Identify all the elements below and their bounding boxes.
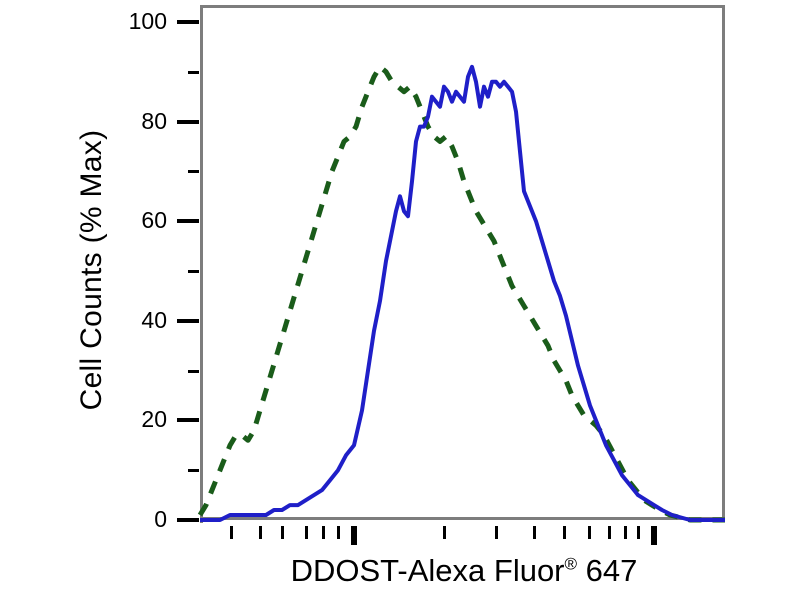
x-axis-title-tail: 647	[577, 553, 637, 588]
flow-cytometry-figure: Cell Counts (% Max) 020406080100 DDOST-A…	[0, 0, 800, 600]
registered-trademark-icon: ®	[565, 555, 578, 574]
histogram-curves	[0, 0, 800, 600]
x-axis-title: DDOST-Alexa Fluor® 647	[200, 553, 728, 589]
x-axis-title-main: DDOST-Alexa Fluor	[291, 553, 565, 588]
histogram-curve	[200, 67, 725, 520]
histogram-curve	[200, 67, 725, 520]
